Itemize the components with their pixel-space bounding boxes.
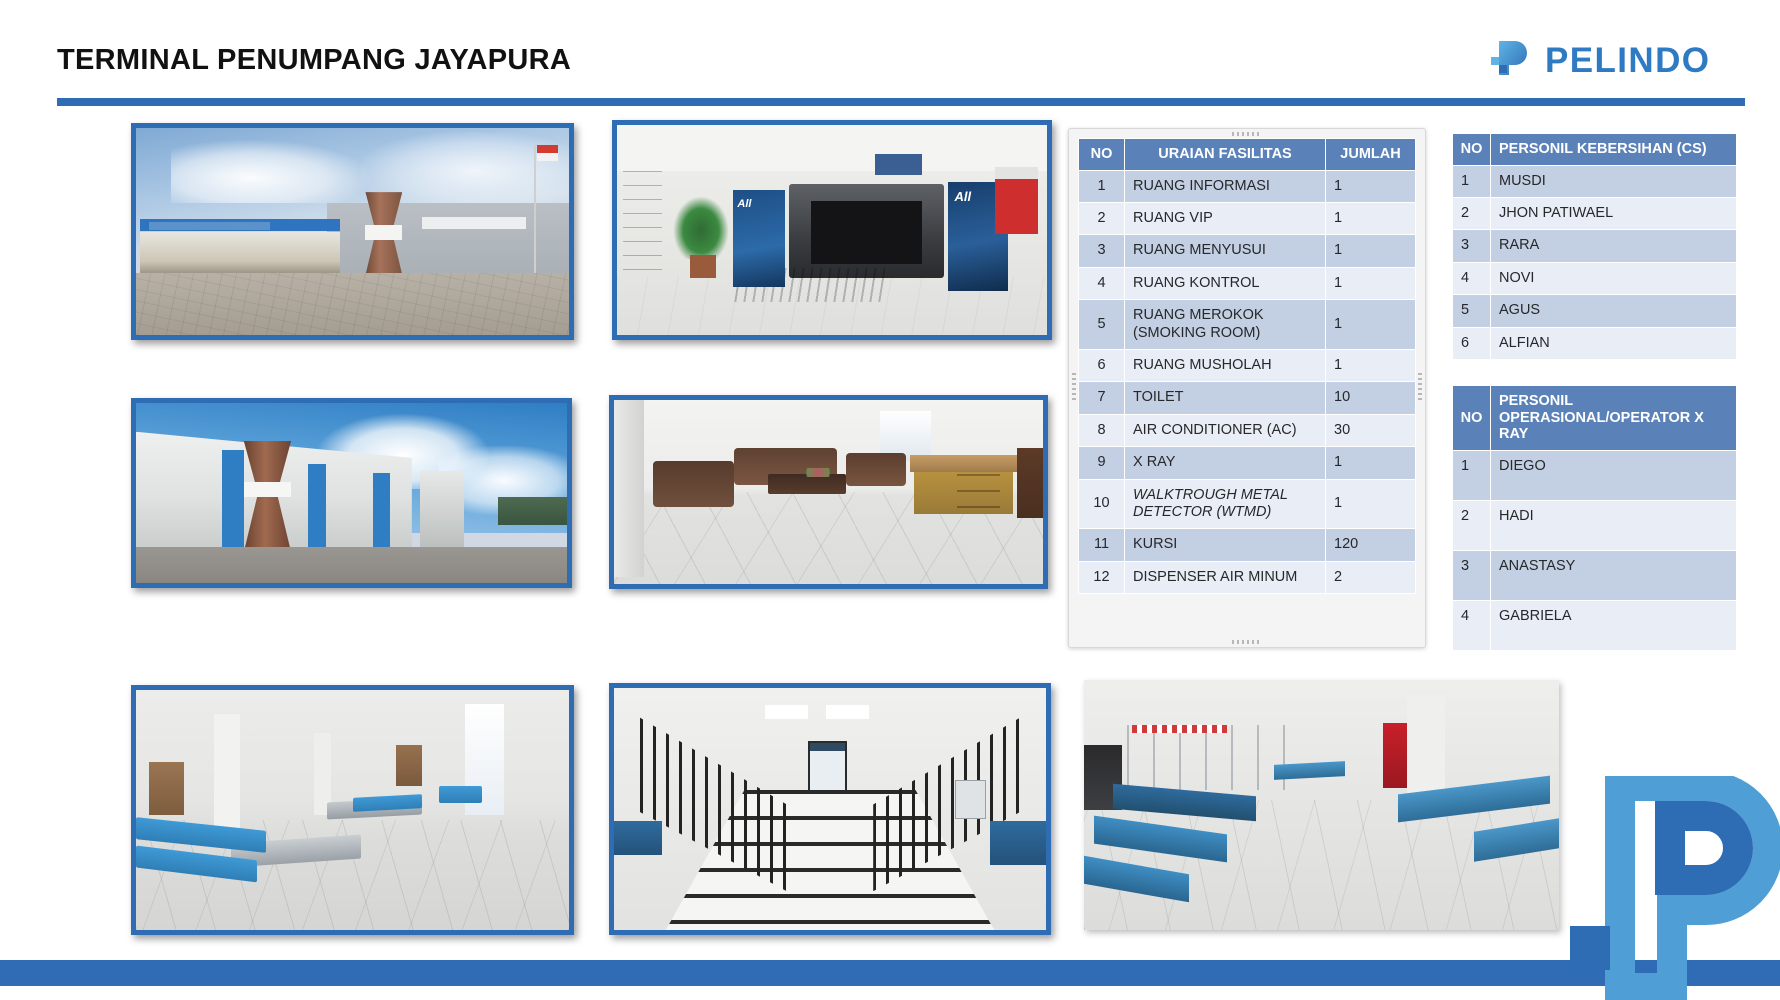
cell-facility-name: WALKTROUGH METAL DETECTOR (WTMD) (1125, 479, 1326, 529)
table-header-row: NO PERSONIL KEBERSIHAN (CS) (1453, 134, 1737, 166)
table-row: 5AGUS (1453, 295, 1737, 327)
cell-quantity: 1 (1326, 447, 1416, 479)
cell-no: 7 (1079, 382, 1125, 414)
xray-operator-table: NO PERSONIL OPERASIONAL/OPERATOR X RAY 1… (1452, 385, 1737, 651)
cell-facility-name: RUANG MEROKOK (SMOKING ROOM) (1125, 300, 1326, 350)
cell-no: 5 (1079, 300, 1125, 350)
cell-no: 12 (1079, 561, 1125, 593)
table-row: 8AIR CONDITIONER (AC)30 (1079, 414, 1416, 446)
col-no: NO (1453, 134, 1491, 166)
cell-no: 4 (1453, 601, 1491, 651)
cell-operator-name: ANASTASY (1491, 551, 1737, 601)
table-row: 1MUSDI (1453, 165, 1737, 197)
cell-staff-name: NOVI (1491, 262, 1737, 294)
cell-no: 1 (1453, 451, 1491, 501)
pelindo-mark-icon (1488, 35, 1534, 86)
photo-departure-hall: Departure hall with ticket counters and … (1084, 680, 1559, 930)
facility-table: NO URAIAN FASILITAS JUMLAH 1RUANG INFORM… (1078, 138, 1416, 594)
header-divider (57, 98, 1745, 106)
cell-operator-name: DIEGO (1491, 451, 1737, 501)
table-row: 2RUANG VIP1 (1079, 203, 1416, 235)
cell-staff-name: JHON PATIWAEL (1491, 198, 1737, 230)
panel-handle-left-icon (1072, 373, 1076, 403)
photo-waiting-hall: Waiting hall with blue and steel bench s… (131, 685, 574, 935)
cell-quantity: 1 (1326, 170, 1416, 202)
col-no: NO (1079, 139, 1125, 171)
photo-xray-scanner: All All X-ray baggage scanner with AllIn… (612, 120, 1052, 340)
cell-no: 2 (1453, 198, 1491, 230)
slide-canvas: TERMINAL PENUMPANG JAYAPURA PELINDO (0, 0, 1780, 1000)
table-row: 12DISPENSER AIR MINUM2 (1079, 561, 1416, 593)
cell-quantity: 1 (1326, 300, 1416, 350)
cell-no: 10 (1079, 479, 1125, 529)
cell-staff-name: MUSDI (1491, 165, 1737, 197)
cell-quantity: 1 (1326, 235, 1416, 267)
table-row: 6RUANG MUSHOLAH1 (1079, 350, 1416, 382)
photo-vip-room: VIP room with brown sofa set and wooden … (609, 395, 1048, 589)
cleaning-staff-panel: NO PERSONIL KEBERSIHAN (CS) 1MUSDI2JHON … (1452, 133, 1737, 360)
table-row: 4NOVI (1453, 262, 1737, 294)
cell-facility-name: DISPENSER AIR MINUM (1125, 561, 1326, 593)
table-header-row: NO PERSONIL OPERASIONAL/OPERATOR X RAY (1453, 386, 1737, 451)
col-name: URAIAN FASILITAS (1125, 139, 1326, 171)
cell-staff-name: RARA (1491, 230, 1737, 262)
cell-no: 6 (1079, 350, 1125, 382)
panel-handle-top-icon (1232, 132, 1262, 136)
cell-no: 4 (1453, 262, 1491, 294)
xray-operator-panel: NO PERSONIL OPERASIONAL/OPERATOR X RAY 1… (1452, 385, 1737, 651)
table-row: 5RUANG MEROKOK (SMOKING ROOM)1 (1079, 300, 1416, 350)
panel-handle-bottom-icon (1232, 640, 1262, 644)
cell-operator-name: GABRIELA (1491, 601, 1737, 651)
cell-facility-name: X RAY (1125, 447, 1326, 479)
table-row: 3RUANG MENYUSUI1 (1079, 235, 1416, 267)
table-row: 2HADI (1453, 501, 1737, 551)
table-row: 1DIEGO (1453, 451, 1737, 501)
table-header-row: NO URAIAN FASILITAS JUMLAH (1079, 139, 1416, 171)
cell-facility-name: RUANG VIP (1125, 203, 1326, 235)
col-no: NO (1453, 386, 1491, 451)
table-row: 4RUANG KONTROL1 (1079, 267, 1416, 299)
photo-staircase: Marble staircase with black steel railin… (609, 683, 1051, 935)
cleaning-staff-table: NO PERSONIL KEBERSIHAN (CS) 1MUSDI2JHON … (1452, 133, 1737, 360)
cell-facility-name: TOILET (1125, 382, 1326, 414)
cell-no: 2 (1453, 501, 1491, 551)
cell-quantity: 1 (1326, 203, 1416, 235)
col-qty: JUMLAH (1326, 139, 1416, 171)
page-title: TERMINAL PENUMPANG JAYAPURA (57, 44, 571, 77)
cell-no: 3 (1453, 551, 1491, 601)
cell-quantity: 1 (1326, 350, 1416, 382)
cell-no: 2 (1079, 203, 1125, 235)
cell-no: 9 (1079, 447, 1125, 479)
cell-no: 8 (1079, 414, 1125, 446)
cell-no: 5 (1453, 295, 1491, 327)
col-name: PERSONIL OPERASIONAL/OPERATOR X RAY (1491, 386, 1737, 451)
cell-facility-name: RUANG KONTROL (1125, 267, 1326, 299)
cell-facility-name: RUANG MUSHOLAH (1125, 350, 1326, 382)
cell-facility-name: KURSI (1125, 529, 1326, 561)
cell-facility-name: RUANG INFORMASI (1125, 170, 1326, 202)
pelindo-wordmark: PELINDO (1545, 43, 1710, 78)
cell-quantity: 1 (1326, 479, 1416, 529)
cell-quantity: 30 (1326, 414, 1416, 446)
table-row: 11KURSI120 (1079, 529, 1416, 561)
photo-terminal-side: Terminal building exterior side view und… (131, 398, 572, 588)
table-row: 3RARA (1453, 230, 1737, 262)
photo-terminal-front: Terminal Penumpang Jayapura building ext… (131, 123, 574, 340)
cell-no: 11 (1079, 529, 1125, 561)
table-row: 2JHON PATIWAEL (1453, 198, 1737, 230)
table-row: 10WALKTROUGH METAL DETECTOR (WTMD)1 (1079, 479, 1416, 529)
table-row: 1RUANG INFORMASI1 (1079, 170, 1416, 202)
cell-facility-name: AIR CONDITIONER (AC) (1125, 414, 1326, 446)
cell-quantity: 120 (1326, 529, 1416, 561)
footer-bar (0, 960, 1780, 986)
table-row: 6ALFIAN (1453, 327, 1737, 359)
pelindo-logo: PELINDO (1488, 33, 1746, 87)
cell-quantity: 2 (1326, 561, 1416, 593)
table-row: 9X RAY1 (1079, 447, 1416, 479)
cell-no: 3 (1453, 230, 1491, 262)
cell-quantity: 1 (1326, 267, 1416, 299)
cell-no: 4 (1079, 267, 1125, 299)
facility-table-panel: NO URAIAN FASILITAS JUMLAH 1RUANG INFORM… (1068, 128, 1426, 648)
cell-staff-name: ALFIAN (1491, 327, 1737, 359)
cell-no: 1 (1079, 170, 1125, 202)
col-name: PERSONIL KEBERSIHAN (CS) (1491, 134, 1737, 166)
cell-no: 3 (1079, 235, 1125, 267)
cell-facility-name: RUANG MENYUSUI (1125, 235, 1326, 267)
table-row: 3ANASTASY (1453, 551, 1737, 601)
cell-operator-name: HADI (1491, 501, 1737, 551)
panel-handle-right-icon (1418, 373, 1422, 403)
cell-quantity: 10 (1326, 382, 1416, 414)
table-row: 7TOILET10 (1079, 382, 1416, 414)
cell-staff-name: AGUS (1491, 295, 1737, 327)
cell-no: 6 (1453, 327, 1491, 359)
cell-no: 1 (1453, 165, 1491, 197)
table-row: 4GABRIELA (1453, 601, 1737, 651)
